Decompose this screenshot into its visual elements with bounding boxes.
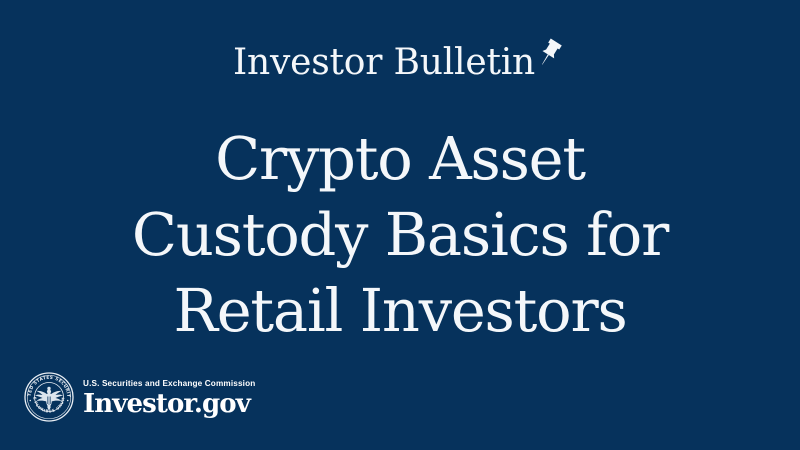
title-line-2: Custody Basics for — [0, 197, 800, 273]
investor-bulletin-slide: Investor Bulletin Crypto Asset Custody B… — [0, 0, 800, 450]
agency-name-label: U.S. Securities and Exchange Commission — [83, 378, 255, 389]
bulletin-kicker: Investor Bulletin — [0, 41, 800, 85]
pushpin-icon — [533, 37, 567, 75]
logo-text-group: U.S. Securities and Exchange Commission … — [83, 378, 255, 421]
investor-gov-logo-lockup[interactable]: UNITED STATES SECURITIES E PLURIBUS UNUM — [24, 372, 255, 426]
page-title: Crypto Asset Custody Basics for Retail I… — [0, 121, 800, 349]
title-line-3: Retail Investors — [0, 273, 800, 349]
investor-gov-wordmark[interactable]: Investor.gov — [83, 390, 255, 419]
sec-seal-icon: UNITED STATES SECURITIES E PLURIBUS UNUM — [24, 372, 74, 426]
title-line-1: Crypto Asset — [0, 121, 800, 197]
bulletin-kicker-label: Investor Bulletin — [233, 41, 535, 85]
